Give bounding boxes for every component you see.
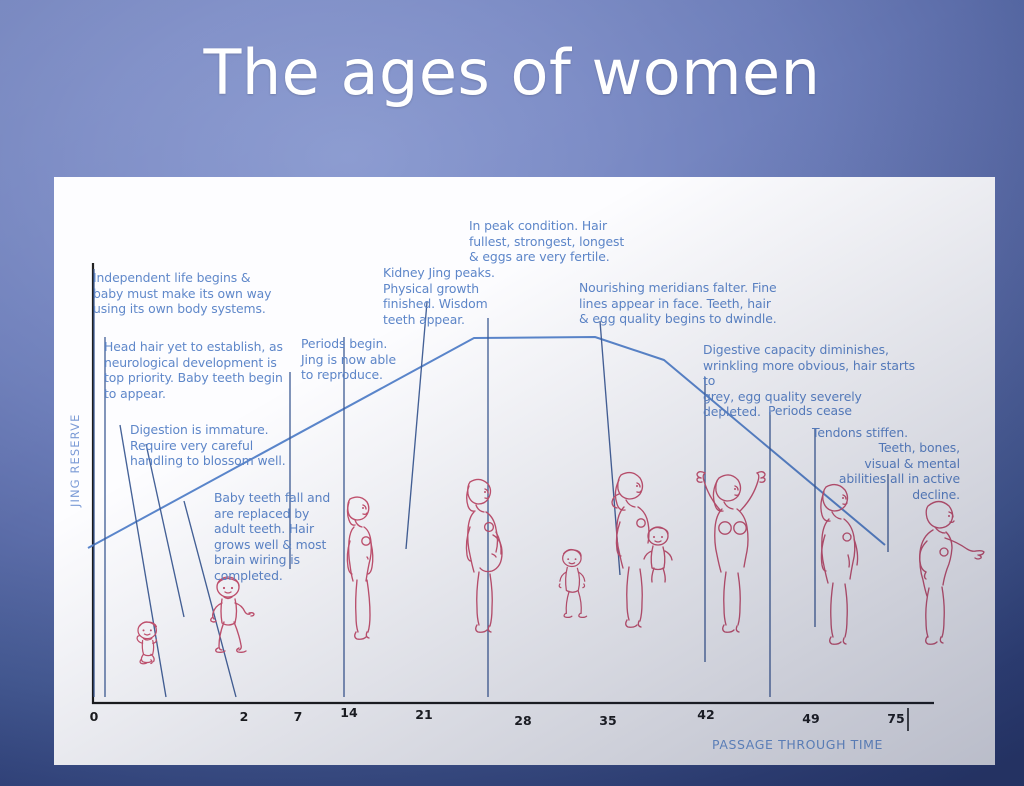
figure-toddler-walking xyxy=(211,577,254,652)
figure-woman-pregnant xyxy=(466,479,502,632)
annotation-kidney-jing-peaks: Kidney Jing peaks. Physical growth finis… xyxy=(383,265,508,327)
page-title: The ages of women xyxy=(0,36,1024,109)
x-tick-28: 28 xyxy=(514,713,531,728)
annotation-independent-life: Independent life begins & baby must make… xyxy=(93,270,298,317)
annotation-meridians-falter: Nourishing meridians falter. Fine lines … xyxy=(579,280,814,327)
figure-woman-elderly xyxy=(920,502,984,645)
chart-panel: Independent life begins & baby must make… xyxy=(54,177,995,765)
x-tick-75: 75 xyxy=(887,711,904,726)
annotation-peak-condition: In peak condition. Hair fullest, stronge… xyxy=(469,218,644,265)
figure-mother-with-children xyxy=(559,473,672,628)
x-tick-21: 21 xyxy=(415,707,432,722)
x-axis-title: PASSAGE THROUGH TIME xyxy=(712,737,883,752)
x-tick-7: 7 xyxy=(294,709,303,724)
x-tick-35: 35 xyxy=(599,713,616,728)
x-tick-0: 0 xyxy=(90,709,99,724)
annotation-leader-lines xyxy=(94,269,888,697)
annotation-tendons-stiffen: Tendons stiffen. xyxy=(812,425,927,441)
figure-infant-sitting xyxy=(137,622,156,664)
annotation-head-hair: Head hair yet to establish, as neurologi… xyxy=(104,339,319,401)
annotation-digestion-immature: Digestion is immature. Require very care… xyxy=(130,422,325,469)
y-axis-title: JING RESERVE xyxy=(68,414,82,507)
annotation-baby-teeth-fall: Baby teeth fall and are replaced by adul… xyxy=(214,490,334,584)
x-tick-49: 49 xyxy=(802,711,819,726)
x-tick-14: 14 xyxy=(340,705,357,720)
x-tick-42: 42 xyxy=(697,707,714,722)
figure-woman-middle-aged xyxy=(821,485,858,645)
slide-canvas: The ages of women xyxy=(0,0,1024,786)
figure-woman-arms-raised xyxy=(697,472,765,633)
x-tick-2: 2 xyxy=(240,709,249,724)
figure-girl-teen xyxy=(347,497,372,639)
annotation-periods-begin: Periods begin. Jing is now able to repro… xyxy=(301,336,416,383)
annotation-periods-cease: Periods cease xyxy=(768,403,878,419)
annotation-active-decline: Teeth, bones, visual & mental abilities … xyxy=(770,440,960,502)
